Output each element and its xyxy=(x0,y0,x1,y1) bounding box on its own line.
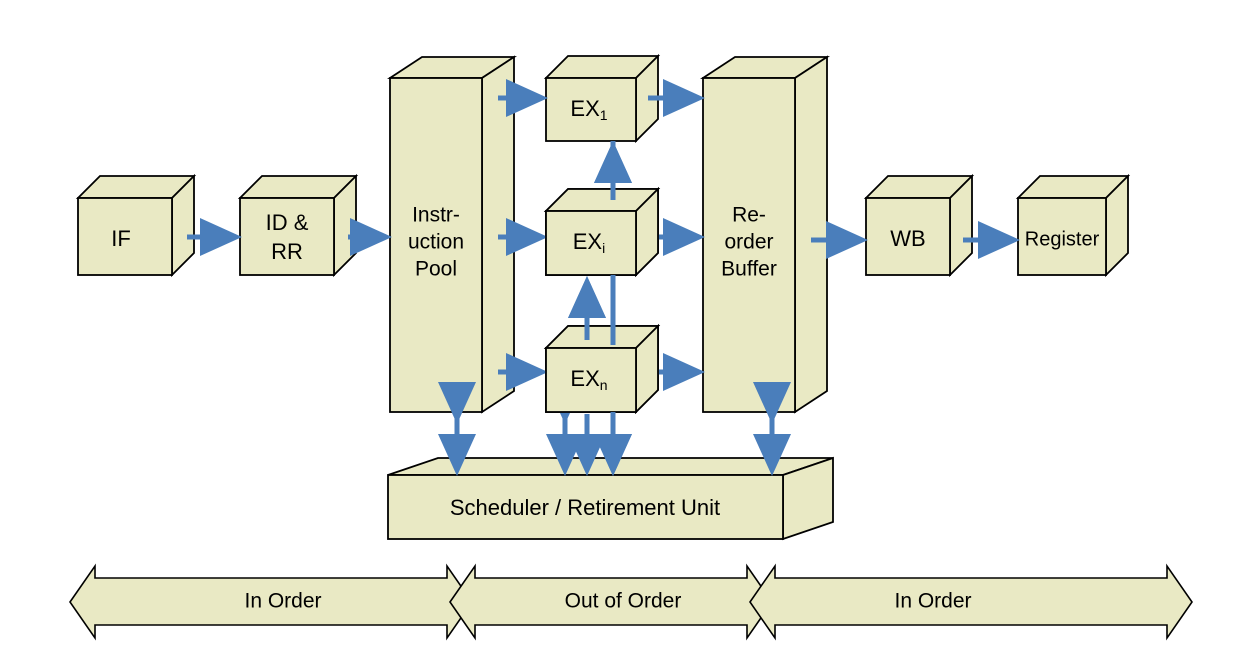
exn-overlay: EXn xyxy=(546,326,658,412)
block-wb[interactable]: WB xyxy=(866,176,972,275)
instruction-pool-label-line2: uction xyxy=(408,231,464,254)
block-reorder-buffer[interactable]: Re- order Buffer xyxy=(703,57,827,412)
block-register[interactable]: Register xyxy=(1018,176,1128,275)
phase-band: In Order Out of Order In Order xyxy=(70,566,1192,638)
wb-label: WB xyxy=(890,226,925,251)
phase-label-out-of-order: Out of Order xyxy=(565,590,682,613)
reorder-buffer-label-line3: Buffer xyxy=(721,258,777,281)
exi-overlay: EXi xyxy=(546,189,658,275)
exi-label-overlay: EXi xyxy=(573,229,605,256)
ex1-label-base: EX xyxy=(570,96,600,121)
id-rr-label-line2: RR xyxy=(271,239,303,264)
block-if[interactable]: IF xyxy=(78,176,194,275)
phase-label-in-order-back: In Order xyxy=(894,590,971,613)
diagram-canvas: In Order Out of Order In Order Scheduler… xyxy=(0,0,1249,661)
reorder-buffer-side-face xyxy=(795,57,827,412)
pipeline-diagram-svg: In Order Out of Order In Order Scheduler… xyxy=(0,0,1249,661)
reorder-buffer-label-line1: Re- xyxy=(732,204,766,227)
block-scheduler[interactable]: Scheduler / Retirement Unit xyxy=(388,458,833,539)
exn-label-base-overlay: EX xyxy=(570,366,600,391)
block-instruction-pool[interactable]: Instr- uction Pool xyxy=(390,57,514,412)
instruction-pool-label-line1: Instr- xyxy=(412,204,460,227)
phase-label-in-order-front: In Order xyxy=(244,590,321,613)
ex1-label-subscript: 1 xyxy=(600,107,608,123)
id-rr-label-line1: ID & xyxy=(266,210,309,235)
block-id-rr[interactable]: ID & RR xyxy=(240,176,356,275)
scheduler-label: Scheduler / Retirement Unit xyxy=(450,495,720,520)
exi-label-subscript-overlay: i xyxy=(602,240,605,256)
exi-label-base-overlay: EX xyxy=(573,229,603,254)
reorder-buffer-label-line2: order xyxy=(724,231,773,254)
block-ex1[interactable]: EX1 xyxy=(546,56,658,141)
exn-label-subscript-overlay: n xyxy=(600,377,608,393)
instruction-pool-label-line3: Pool xyxy=(415,258,457,281)
if-label: IF xyxy=(111,226,131,251)
register-label: Register xyxy=(1025,228,1100,250)
